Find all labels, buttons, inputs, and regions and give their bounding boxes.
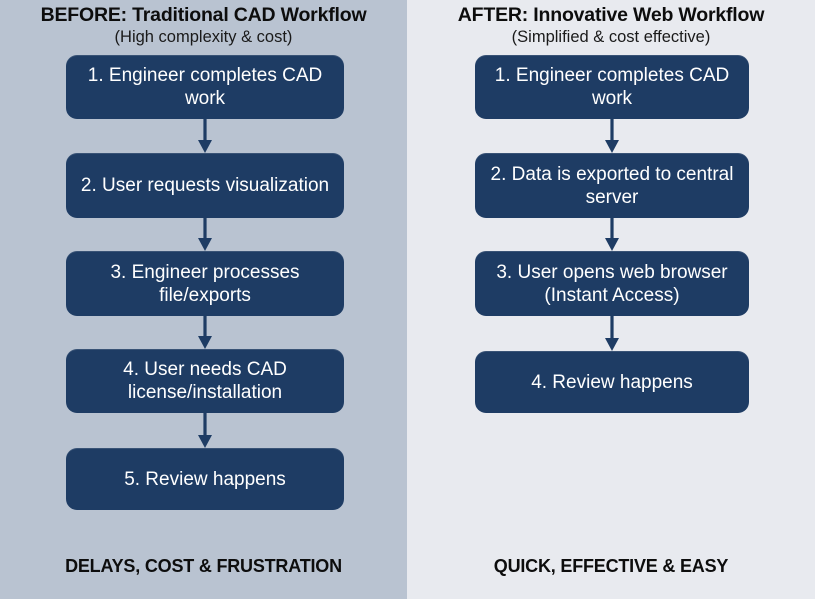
arrow-before-1-to-2 [194,119,216,153]
node-before-2-label: 2. User requests visualization [81,174,329,197]
node-before-2: 2. User requests visualization [66,153,344,218]
node-before-4: 4. User needs CAD license/installation [66,349,344,413]
panel-after-footer: QUICK, EFFECTIVE & EASY [407,556,815,577]
node-after-3-label: 3. User opens web browser (Instant Acces… [485,261,739,307]
panel-before-title: BEFORE: Traditional CAD Workflow [41,5,367,25]
panel-after-title: AFTER: Innovative Web Workflow [458,5,764,25]
node-before-3-label: 3. Engineer processes file/exports [76,261,334,307]
panel-after-subtitle: (Simplified & cost effective) [512,28,711,47]
node-after-2-label: 2. Data is exported to central server [485,163,739,209]
node-before-3: 3. Engineer processes file/exports [66,251,344,316]
arrow-after-2-to-3 [601,218,623,251]
node-after-3: 3. User opens web browser (Instant Acces… [475,251,749,316]
arrow-before-3-to-4 [194,316,216,349]
node-before-4-label: 4. User needs CAD license/installation [76,358,334,404]
node-after-4-label: 4. Review happens [531,371,693,394]
panel-before-subtitle: (High complexity & cost) [115,28,293,47]
arrow-after-1-to-2 [601,119,623,153]
flow-before: 1. Engineer completes CAD work 2. User r… [0,47,407,599]
flow-after: 1. Engineer completes CAD work 2. Data i… [407,47,815,599]
panel-before-footer: DELAYS, COST & FRUSTRATION [0,556,407,577]
node-after-4: 4. Review happens [475,351,749,413]
node-before-5-label: 5. Review happens [124,468,286,491]
panel-after: AFTER: Innovative Web Workflow (Simplifi… [407,0,815,599]
node-after-1-label: 1. Engineer completes CAD work [485,64,739,110]
arrow-before-2-to-3 [194,218,216,251]
workflow-comparison-diagram: BEFORE: Traditional CAD Workflow (High c… [0,0,815,599]
arrow-before-4-to-5 [194,413,216,448]
node-after-2: 2. Data is exported to central server [475,153,749,218]
node-before-1-label: 1. Engineer completes CAD work [76,64,334,110]
node-before-1: 1. Engineer completes CAD work [66,55,344,119]
panel-before: BEFORE: Traditional CAD Workflow (High c… [0,0,407,599]
arrow-after-3-to-4 [601,316,623,351]
node-before-5: 5. Review happens [66,448,344,510]
node-after-1: 1. Engineer completes CAD work [475,55,749,119]
